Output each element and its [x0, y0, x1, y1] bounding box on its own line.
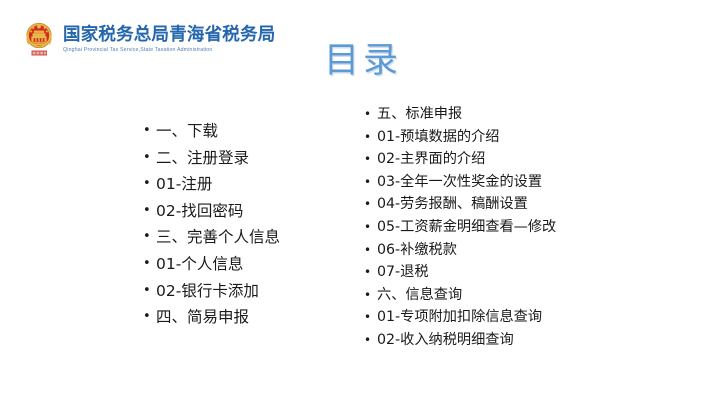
toc-list-right: 五、标准申报 01-预填数据的介绍 02-主界面的介绍 03-全年一次性奖金的设…	[364, 103, 704, 352]
toc-item[interactable]: 05-工资薪金明细查看—修改	[364, 216, 704, 239]
toc-item[interactable]: 01-个人信息	[143, 251, 358, 278]
toc-item[interactable]: 02-收入纳税明细查询	[364, 329, 704, 352]
toc-item[interactable]: 02-主界面的介绍	[364, 148, 704, 171]
toc-item[interactable]: 二、注册登录	[143, 145, 358, 172]
toc-item[interactable]: 06-补缴税款	[364, 239, 704, 262]
toc-item[interactable]: 01-预填数据的介绍	[364, 126, 704, 149]
toc-item[interactable]: 六、信息查询	[364, 284, 704, 307]
toc-item[interactable]: 01-注册	[143, 171, 358, 198]
toc-item[interactable]: 03-全年一次性奖金的设置	[364, 171, 704, 194]
toc-item[interactable]: 02-银行卡添加	[143, 278, 358, 305]
presentation-slide: 国家税务总局青海省税务局 Qinghai Provincial Tax Serv…	[0, 0, 726, 400]
toc-item[interactable]: 五、标准申报	[364, 103, 704, 126]
slide-title: 目录	[0, 41, 726, 81]
toc-item[interactable]: 07-退税	[364, 261, 704, 284]
toc-list-left: 一、下载 二、注册登录 01-注册 02-找回密码 三、完善个人信息 01-个人…	[143, 118, 358, 331]
toc-column-right: 五、标准申报 01-预填数据的介绍 02-主界面的介绍 03-全年一次性奖金的设…	[364, 103, 704, 352]
toc-item[interactable]: 四、简易申报	[143, 304, 358, 331]
toc-column-left: 一、下载 二、注册登录 01-注册 02-找回密码 三、完善个人信息 01-个人…	[143, 118, 358, 331]
toc-item[interactable]: 04-劳务报酬、稿酬设置	[364, 193, 704, 216]
toc-item[interactable]: 一、下载	[143, 118, 358, 145]
toc-item[interactable]: 三、完善个人信息	[143, 224, 358, 251]
toc-item[interactable]: 01-专项附加扣除信息查询	[364, 306, 704, 329]
toc-item[interactable]: 02-找回密码	[143, 198, 358, 225]
